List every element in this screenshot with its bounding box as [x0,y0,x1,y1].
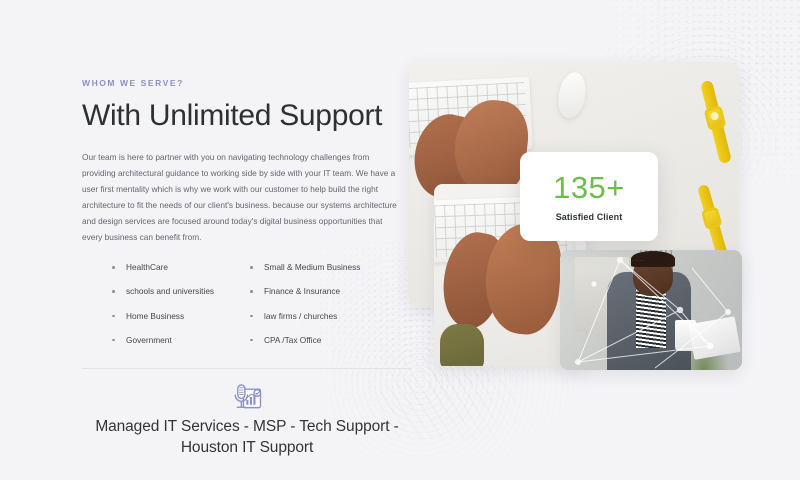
list-item: Finance & Insurance [248,287,378,295]
list-item: Home Business [110,312,230,320]
svg-text:. . . . . .: . . . . . . [696,312,710,317]
section-eyebrow: WHOM WE SERVE? [82,78,412,88]
divider [82,368,412,369]
content-column: WHOM WE SERVE? With Unlimited Support Ou… [82,78,412,245]
industries-list-left: HealthCare schools and universities Home… [110,263,230,344]
svg-text:. . . . . .: . . . . . . [685,282,699,287]
network-overlay-graphic: . . . . . . . . . . . . . . . . . . . . … [560,250,742,370]
stat-label: Satisfied Client [556,212,623,222]
photo-businessman: . . . . . . . . . . . . . . . . . . . . … [560,250,742,370]
sleeve-graphic [440,324,484,366]
industries-served-lists: HealthCare schools and universities Home… [110,263,378,344]
image-collage: . . . . . . . . . . . . . . . . . . . . … [407,62,742,370]
list-item: Small & Medium Business [248,263,378,271]
industries-list-right: Small & Medium Business Finance & Insura… [248,263,378,344]
footer-block: Managed IT Services - MSP - Tech Support… [82,380,412,459]
list-item: Government [110,336,230,344]
stat-number: 135+ [553,172,625,203]
analytics-microphone-icon [230,380,264,414]
svg-text:. . . . . .: . . . . . . [600,338,614,343]
svg-text:. . . . .: . . . . . [632,257,643,262]
stat-card-satisfied-clients: 135+ Satisfied Client [520,152,658,241]
list-item: schools and universities [110,287,230,295]
list-item: HealthCare [110,263,230,271]
page-title: With Unlimited Support [82,99,412,133]
whom-we-serve-section: WHOM WE SERVE? With Unlimited Support Ou… [0,0,800,480]
list-item: CPA /Tax Office [248,336,378,344]
footer-heading: Managed IT Services - MSP - Tech Support… [82,416,412,459]
section-description: Our team is here to partner with you on … [82,149,404,245]
list-item: law firms / churches [248,312,378,320]
